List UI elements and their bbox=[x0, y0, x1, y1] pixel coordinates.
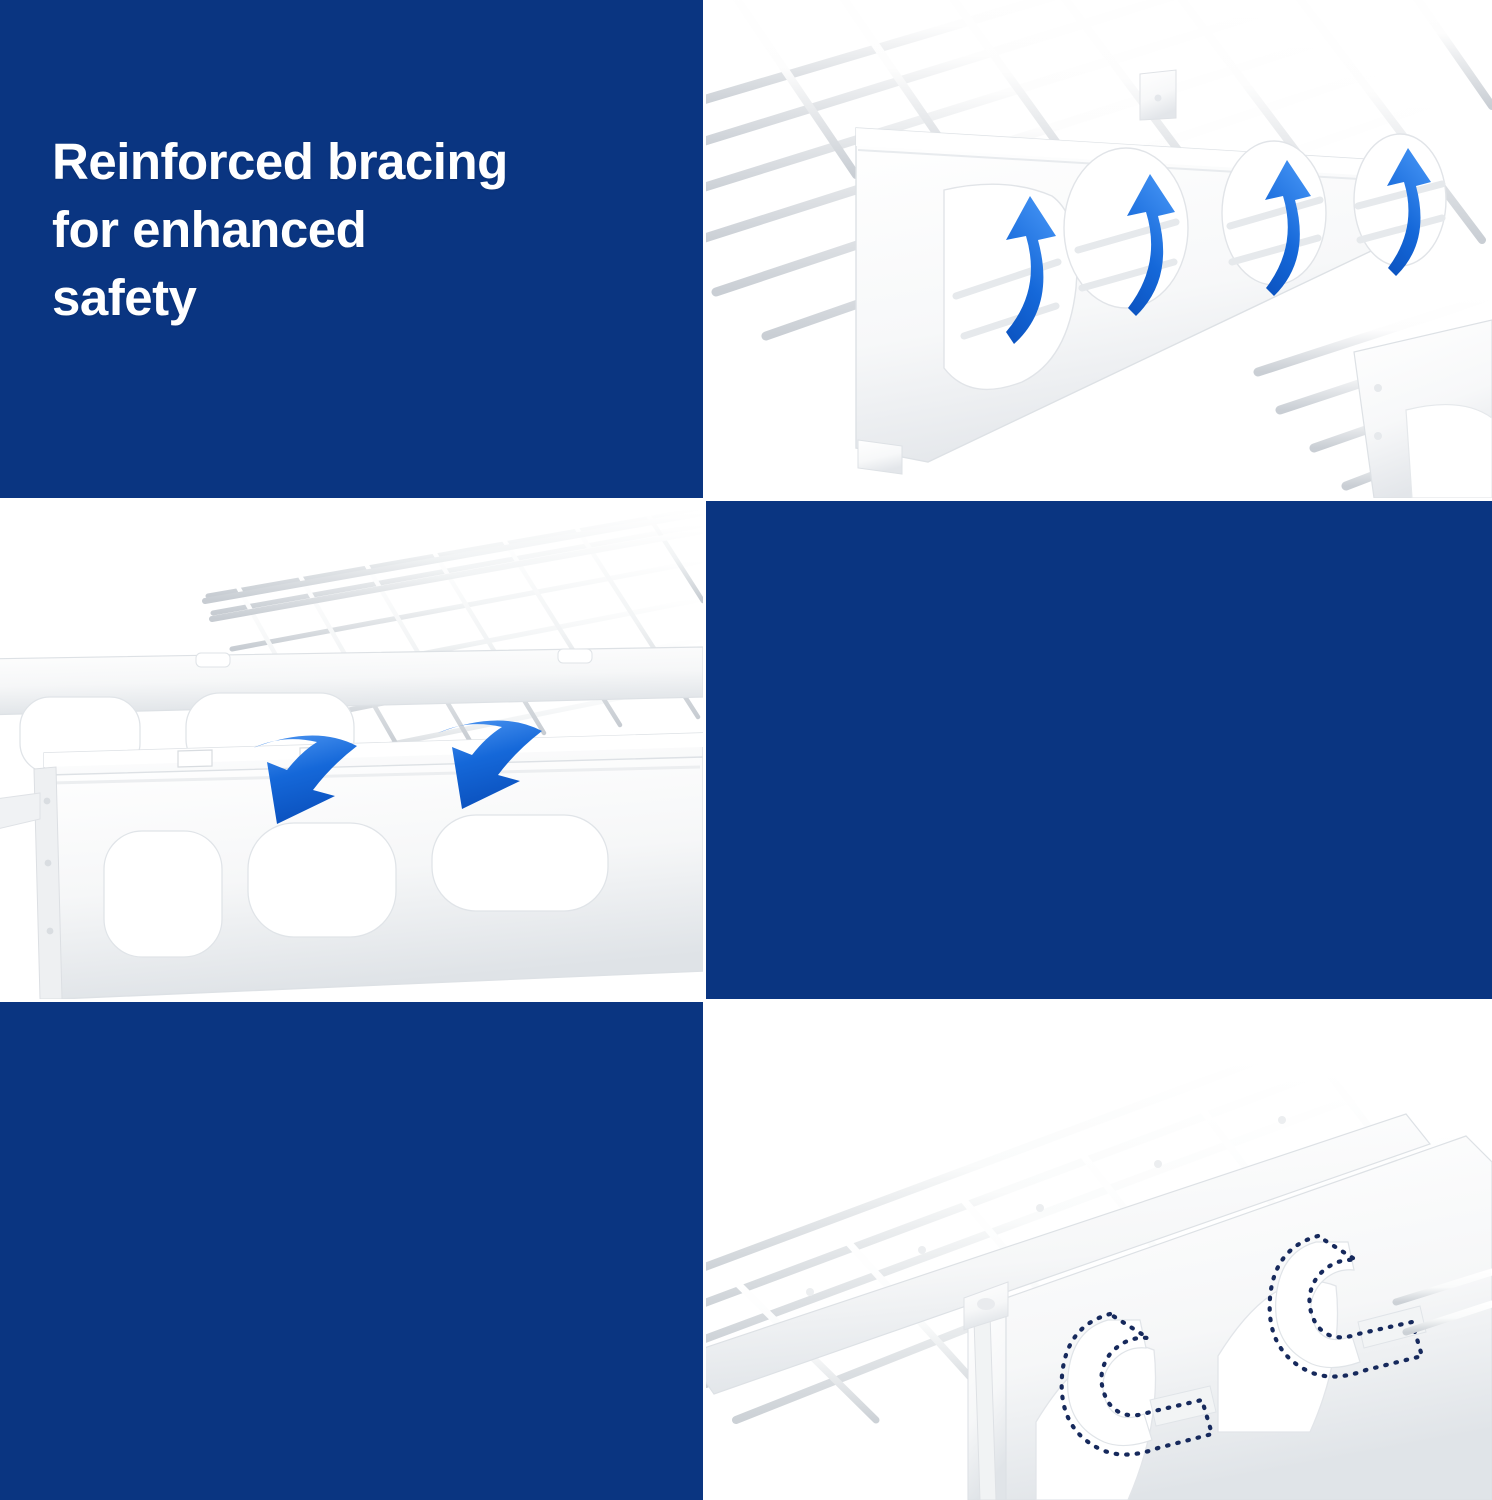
panel-bottom-right-photo bbox=[706, 1002, 1492, 1500]
locking-slots-illustration bbox=[0, 501, 703, 999]
panel-bottom-left-text: Velcro design eliminate lateral shifting bbox=[0, 1002, 703, 1500]
velcro-strap-illustration bbox=[706, 1002, 1492, 1500]
reinforced-bracing-illustration bbox=[706, 0, 1492, 498]
panel-top-right-photo bbox=[706, 0, 1492, 498]
headline-line: Reinforced bracing bbox=[52, 128, 672, 196]
panel-middle-left-photo bbox=[0, 501, 703, 999]
headline-reinforced-bracing: Reinforced bracing for enhanced safety bbox=[52, 128, 672, 331]
panel-top-left-text: Reinforced bracing for enhanced safety bbox=[0, 0, 703, 498]
headline-line: for enhanced bbox=[52, 196, 672, 264]
infographic-root: Reinforced bracing for enhanced safety bbox=[0, 0, 1492, 1500]
headline-line: safety bbox=[52, 264, 672, 332]
panel-middle-right-text: Locking slots reinforce mesh panel stabi… bbox=[706, 501, 1492, 999]
